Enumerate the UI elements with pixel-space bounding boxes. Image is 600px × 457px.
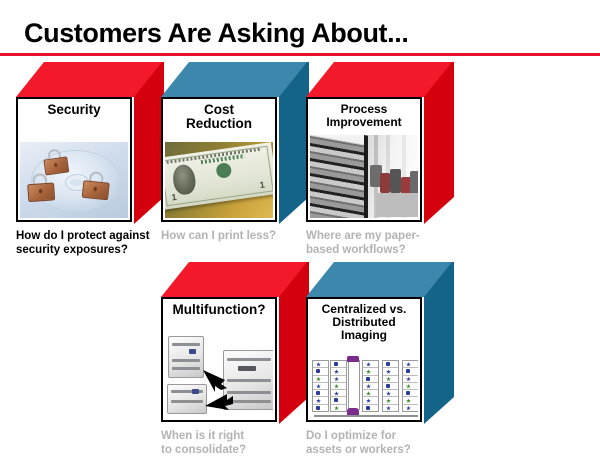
floor-plan-corridor (348, 360, 360, 410)
card-panel: Process Improvement (306, 97, 422, 222)
floor-plan-column (382, 360, 399, 412)
card-caption: How do I protect against security exposu… (16, 230, 166, 257)
card-box-3d: Security (16, 62, 164, 224)
shared-printer-icon (347, 408, 359, 415)
card-process-improvement[interactable]: Process Improvement (306, 62, 454, 257)
card-title: Cost Reduction (163, 99, 275, 133)
card-box-3d: Centralized vs. Distributed Imaging (306, 262, 454, 424)
card-box-3d: Cost Reduction 1 1 (161, 62, 309, 224)
title-divider (0, 53, 600, 56)
card-title: Multifunction? (163, 299, 275, 319)
card-artwork-dollar-bill: 1 1 (165, 142, 273, 218)
card-title: Process Improvement (308, 99, 420, 131)
dollar-bill-icon: 1 1 (165, 142, 273, 210)
card-multifunction[interactable]: Multifunction? (161, 262, 309, 457)
card-artwork-printers-consolidation (165, 332, 273, 418)
card-box-3d: Multifunction? (161, 262, 309, 424)
archive-shelves (310, 135, 372, 218)
card-caption: Where are my paper- based workflows? (306, 230, 456, 257)
page-title: Customers Are Asking About... (24, 18, 408, 49)
card-artwork-office-floor-plan (310, 356, 418, 418)
padlock-icon (82, 176, 110, 200)
floor-plan-column (330, 360, 347, 412)
floor-plan-base-wall (314, 415, 418, 417)
card-panel: Centralized vs. Distributed Imaging (306, 297, 422, 422)
card-caption: When is it right to consolidate? (161, 430, 311, 457)
shared-printer-icon (347, 356, 359, 362)
floor-plan-column (362, 360, 379, 412)
card-box-3d: Process Improvement (306, 62, 454, 224)
card-artwork-paper-archives (310, 135, 418, 218)
card-panel: Security (16, 97, 132, 222)
card-title: Centralized vs. Distributed Imaging (308, 299, 420, 344)
card-cost-reduction[interactable]: Cost Reduction 1 1 How can I print less? (161, 62, 309, 244)
card-artwork-padlocks-on-cd (20, 142, 128, 218)
card-caption: How can I print less? (161, 230, 311, 244)
card-title: Security (18, 99, 130, 119)
card-security[interactable]: Security How do I (16, 62, 164, 257)
floor-plan-column (312, 360, 329, 412)
floor-plan-column (402, 360, 418, 412)
card-panel: Cost Reduction 1 1 (161, 97, 277, 222)
card-caption: Do I optimize for assets or workers? (306, 430, 456, 457)
card-centralized-vs-distributed[interactable]: Centralized vs. Distributed Imaging (306, 262, 454, 457)
padlock-icon (27, 178, 55, 201)
padlock-icon (43, 152, 69, 174)
card-panel: Multifunction? (161, 297, 277, 422)
archive-aisle (368, 135, 418, 218)
consolidation-arrows-icon (165, 332, 273, 418)
